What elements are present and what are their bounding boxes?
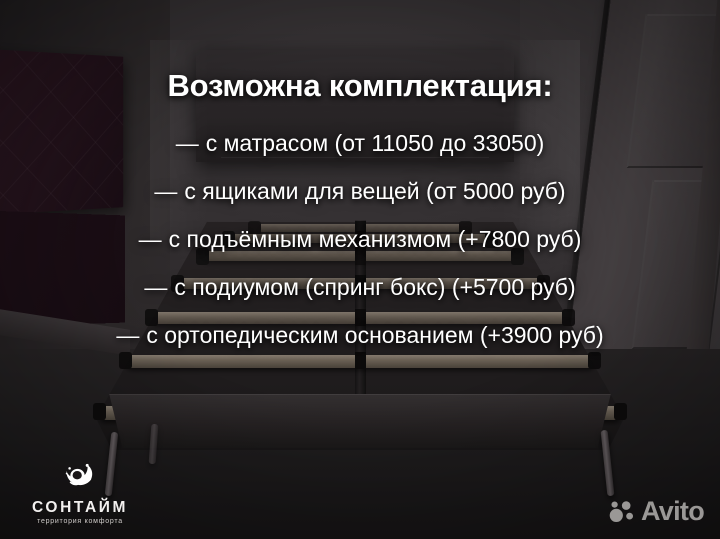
slat-center-clip	[355, 352, 366, 369]
slat-holder-right	[537, 275, 550, 292]
slat-holder-right	[485, 231, 498, 248]
slat-holder-right	[511, 248, 524, 265]
slat-holder-right	[614, 403, 627, 420]
bed-slat	[229, 234, 491, 243]
bed-slat	[152, 312, 569, 324]
bed-slat	[203, 251, 516, 261]
slat-center-clip	[355, 275, 366, 292]
bed-frame-rim	[96, 394, 624, 448]
slat-holder-right	[588, 352, 601, 369]
slat-holder-right	[562, 309, 575, 326]
slat-center-clip	[355, 231, 366, 248]
slat-holder-left	[145, 309, 158, 326]
product-photo: Возможна комплектация: —с матрасом (от 1…	[0, 0, 720, 539]
slat-center-clip	[355, 248, 366, 265]
bed-slat	[178, 278, 543, 289]
slat-holder-left	[222, 231, 235, 248]
bed-frame	[0, 218, 720, 468]
slat-center-clip	[355, 309, 366, 326]
slat-holder-left	[93, 403, 106, 420]
bed-headboard	[196, 50, 514, 162]
slat-holder-left	[119, 352, 132, 369]
wall-glow-left	[150, 40, 210, 240]
bed-slat	[126, 355, 594, 368]
slat-holder-left	[196, 248, 209, 265]
quilted-headboard-left	[0, 48, 123, 216]
slat-holder-left	[171, 275, 184, 292]
